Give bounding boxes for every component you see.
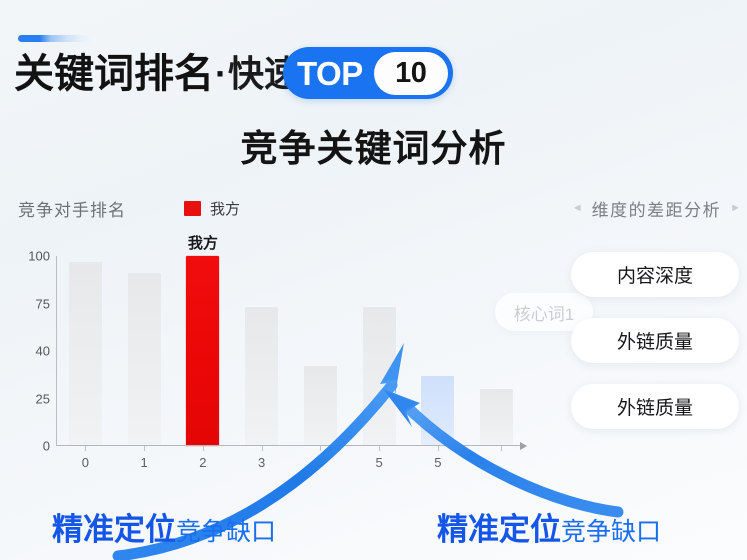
top-badge-number: 10 xyxy=(374,52,448,95)
dimension-card[interactable]: 内容深度 xyxy=(571,252,739,297)
y-axis-tick-label: 25 xyxy=(36,391,50,406)
dimension-panel-header: ◄ 维度的差距分析 ► xyxy=(572,196,741,221)
bar-competitor[interactable] xyxy=(304,366,337,446)
legend-item-ours[interactable]: 我方 xyxy=(184,198,240,219)
x-axis-tick-mark xyxy=(85,446,86,451)
chevron-right-icon[interactable]: ► xyxy=(730,203,741,214)
bar-series: 我方 xyxy=(56,256,526,446)
y-axis-tick-label: 40 xyxy=(36,344,50,359)
bar-callout-label: 我方 xyxy=(188,232,218,256)
dimension-card-list: 内容深度外链质量外链质量 xyxy=(571,252,739,429)
y-axis-tick-label: 0 xyxy=(43,439,50,454)
page-title: 竞争关键词分析 xyxy=(0,118,747,172)
caption-left-weak: 竞争缺口 xyxy=(176,512,276,548)
bar-competitor[interactable] xyxy=(421,376,454,446)
headline-main-text: 关键词排名 xyxy=(14,54,214,94)
dimension-card-label: 内容深度 xyxy=(617,261,693,288)
slide-canvas: 关键词排名 · 快速 TOP 10 竞争关键词分析 竞争对手排名 我方 ◄ 维度… xyxy=(0,0,747,560)
x-axis-tick-mark xyxy=(203,446,204,451)
chevron-left-icon[interactable]: ◄ xyxy=(572,203,583,214)
x-axis-tick-mark xyxy=(379,446,380,451)
headline-separator-dot: · xyxy=(214,56,228,92)
bar-competitor[interactable] xyxy=(363,307,396,446)
chart-axis-title: 竞争对手排名 xyxy=(18,196,126,221)
x-axis-tick-label: 2 xyxy=(199,455,206,470)
x-axis: 0123455 xyxy=(56,446,526,472)
x-axis-tick-label: 5 xyxy=(376,455,383,470)
top-rank-badge[interactable]: TOP 10 xyxy=(283,47,453,99)
x-axis-tick-mark xyxy=(438,446,439,451)
bar-competitor[interactable] xyxy=(69,262,102,446)
core-keyword-label: 核心词1 xyxy=(514,300,574,325)
x-axis-tick-label: 0 xyxy=(82,455,89,470)
legend-item-label: 我方 xyxy=(210,198,240,219)
dimension-card-label: 外链质量 xyxy=(617,327,693,354)
caption-left-strong: 精准定位 xyxy=(52,504,176,549)
chart-legend: 竞争对手排名 我方 xyxy=(18,196,240,221)
legend-color-swatch-icon xyxy=(184,201,201,216)
x-axis-tick-mark xyxy=(320,446,321,451)
top-badge-label: TOP xyxy=(297,57,363,90)
x-axis-tick-label: 3 xyxy=(258,455,265,470)
dimension-card[interactable]: 外链质量 xyxy=(571,384,739,429)
bar-competitor[interactable] xyxy=(245,307,278,446)
dimension-card-label: 外链质量 xyxy=(617,393,693,420)
bar-ours[interactable] xyxy=(186,256,219,446)
caption-left: 精准定位 竞争缺口 xyxy=(52,504,276,549)
bar-competitor[interactable] xyxy=(480,389,513,446)
caption-right: 精准定位 竞争缺口 xyxy=(437,504,661,549)
x-axis-tick-label: 1 xyxy=(141,455,148,470)
x-axis-tick-label: 4 xyxy=(317,455,324,470)
accent-progress-bar xyxy=(18,35,96,42)
caption-right-strong: 精准定位 xyxy=(437,504,561,549)
bar-competitor[interactable] xyxy=(128,273,161,446)
x-axis-tick-mark xyxy=(144,446,145,451)
dimension-card[interactable]: 外链质量 xyxy=(571,318,739,363)
x-axis-tick-mark xyxy=(262,446,263,451)
x-axis-tick-label: 5 xyxy=(434,455,441,470)
x-axis-tick-mark xyxy=(501,446,502,451)
y-axis-tick-label: 100 xyxy=(28,249,50,264)
bar-chart: 1007540250 我方 0123455 xyxy=(14,248,534,463)
y-axis-tick-label: 75 xyxy=(36,296,50,311)
dimension-panel-title: 维度的差距分析 xyxy=(592,196,722,221)
caption-right-weak: 竞争缺口 xyxy=(561,512,661,548)
y-axis: 1007540250 xyxy=(14,248,50,446)
headline: 关键词排名 · 快速 xyxy=(14,46,300,102)
